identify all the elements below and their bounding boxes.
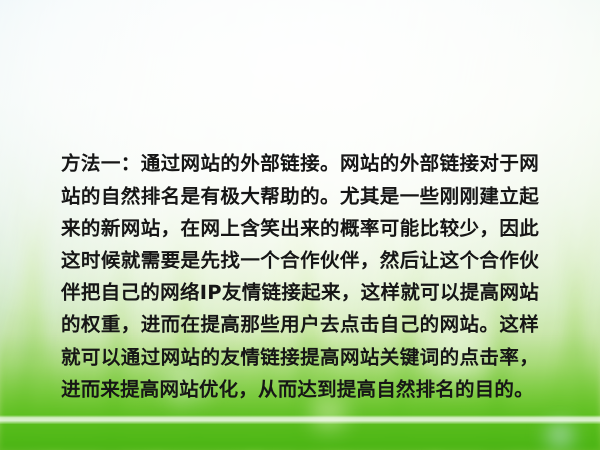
slide-canvas: 方法一：通过网站的外部链接。网站的外部链接对于网站的自然排名是有极大帮助的。尤其… [0,0,600,450]
body-paragraph: 方法一：通过网站的外部链接。网站的外部链接对于网站的自然排名是有极大帮助的。尤其… [61,148,539,406]
slide-body-text: 方法一：通过网站的外部链接。网站的外部链接对于网站的自然排名是有极大帮助的。尤其… [61,84,539,450]
